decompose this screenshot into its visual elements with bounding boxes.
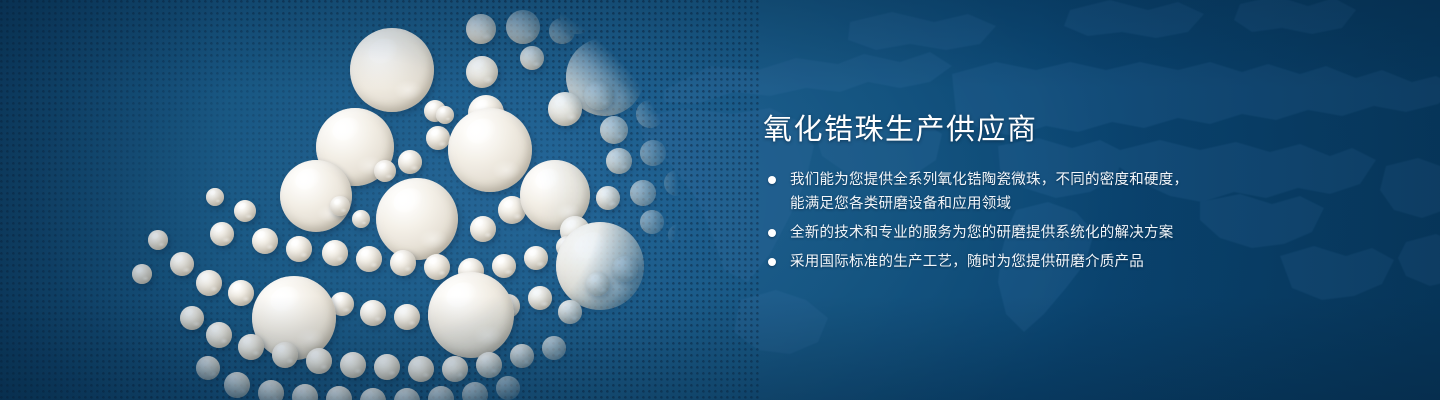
list-item: 全新的技术和专业的服务为您的研磨提供系统化的解决方案: [765, 221, 1188, 245]
list-item-label: 我们能为您提供全系列氧化锆陶瓷微珠，不同的密度和硬度，: [790, 168, 1188, 192]
page-title: 氧化锆珠生产供应商: [763, 111, 1038, 149]
list-item: 我们能为您提供全系列氧化锆陶瓷微珠，不同的密度和硬度，能满足您各类研磨设备和应用…: [765, 168, 1188, 216]
list-item: 采用国际标准的生产工艺，随时为您提供研磨介质产品: [765, 250, 1188, 274]
list-item-label: 采用国际标准的生产工艺，随时为您提供研磨介质产品: [790, 250, 1188, 274]
list-item-label: 能满足您各类研磨设备和应用领域: [790, 192, 1188, 216]
banner-copy: 氧化锆珠生产供应商 我们能为您提供全系列氧化锆陶瓷微珠，不同的密度和硬度，能满足…: [763, 0, 1363, 400]
bullet-dot-icon: [768, 176, 776, 184]
bullet-dot-icon: [768, 258, 776, 266]
bullet-dot-icon: [768, 229, 776, 237]
list-item-label: 全新的技术和专业的服务为您的研磨提供系统化的解决方案: [790, 221, 1188, 245]
zirconia-beads-banner: 氧化锆珠生产供应商 我们能为您提供全系列氧化锆陶瓷微珠，不同的密度和硬度，能满足…: [0, 0, 1440, 400]
feature-list: 我们能为您提供全系列氧化锆陶瓷微珠，不同的密度和硬度，能满足您各类研磨设备和应用…: [765, 168, 1188, 279]
